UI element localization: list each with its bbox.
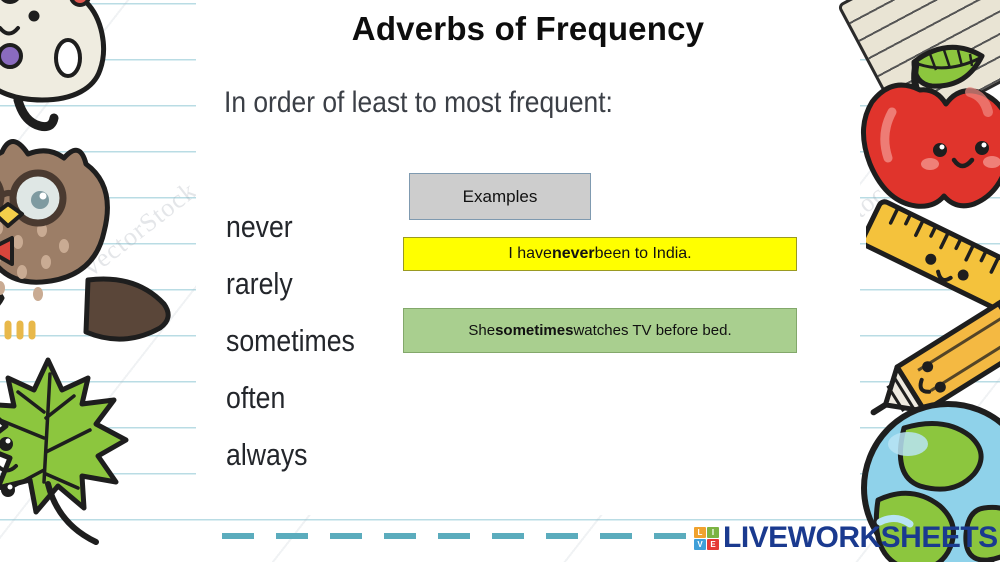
adverb-list: never rarely sometimes often always xyxy=(226,198,406,483)
example-prefix: She xyxy=(468,322,495,339)
logo-square-v: V xyxy=(694,539,706,550)
owl-character-icon xyxy=(0,118,208,378)
list-item: sometimes xyxy=(226,312,381,369)
example-prefix: I have xyxy=(508,245,552,263)
logo-wordmark: LIVEWORKSHEETS xyxy=(723,521,998,555)
example-adverb-bold: never xyxy=(552,245,595,263)
logo-squares: L I V E xyxy=(694,527,719,550)
instruction-text: In order of least to most frequent: xyxy=(224,86,613,120)
example-sentence-box-sometimes: She sometimes watches TV before bed. xyxy=(403,308,797,353)
examples-header-label: Examples xyxy=(463,187,538,207)
example-suffix: watches TV before bed. xyxy=(573,322,731,339)
list-item: often xyxy=(226,369,381,426)
list-item: always xyxy=(226,426,381,483)
example-suffix: been to India. xyxy=(595,245,692,263)
example-sentence-box-never: I have never been to India. xyxy=(403,237,797,271)
worksheet-page: VectorStock VectorStock VectorStock Vect… xyxy=(0,0,1000,562)
list-item: rarely xyxy=(226,255,381,312)
maple-leaf-character-icon xyxy=(0,352,160,562)
logo-square-i: I xyxy=(707,527,719,538)
logo-square-l: L xyxy=(694,527,706,538)
logo-square-e: E xyxy=(707,539,719,550)
dashed-divider xyxy=(222,533,688,539)
liveworksheets-logo[interactable]: L I V E LIVEWORKSHEETS xyxy=(694,521,998,555)
page-title: Adverbs of Frequency xyxy=(196,10,860,48)
list-item: never xyxy=(226,198,381,255)
example-adverb-bold: sometimes xyxy=(495,322,573,339)
examples-header-box: Examples xyxy=(409,173,591,220)
